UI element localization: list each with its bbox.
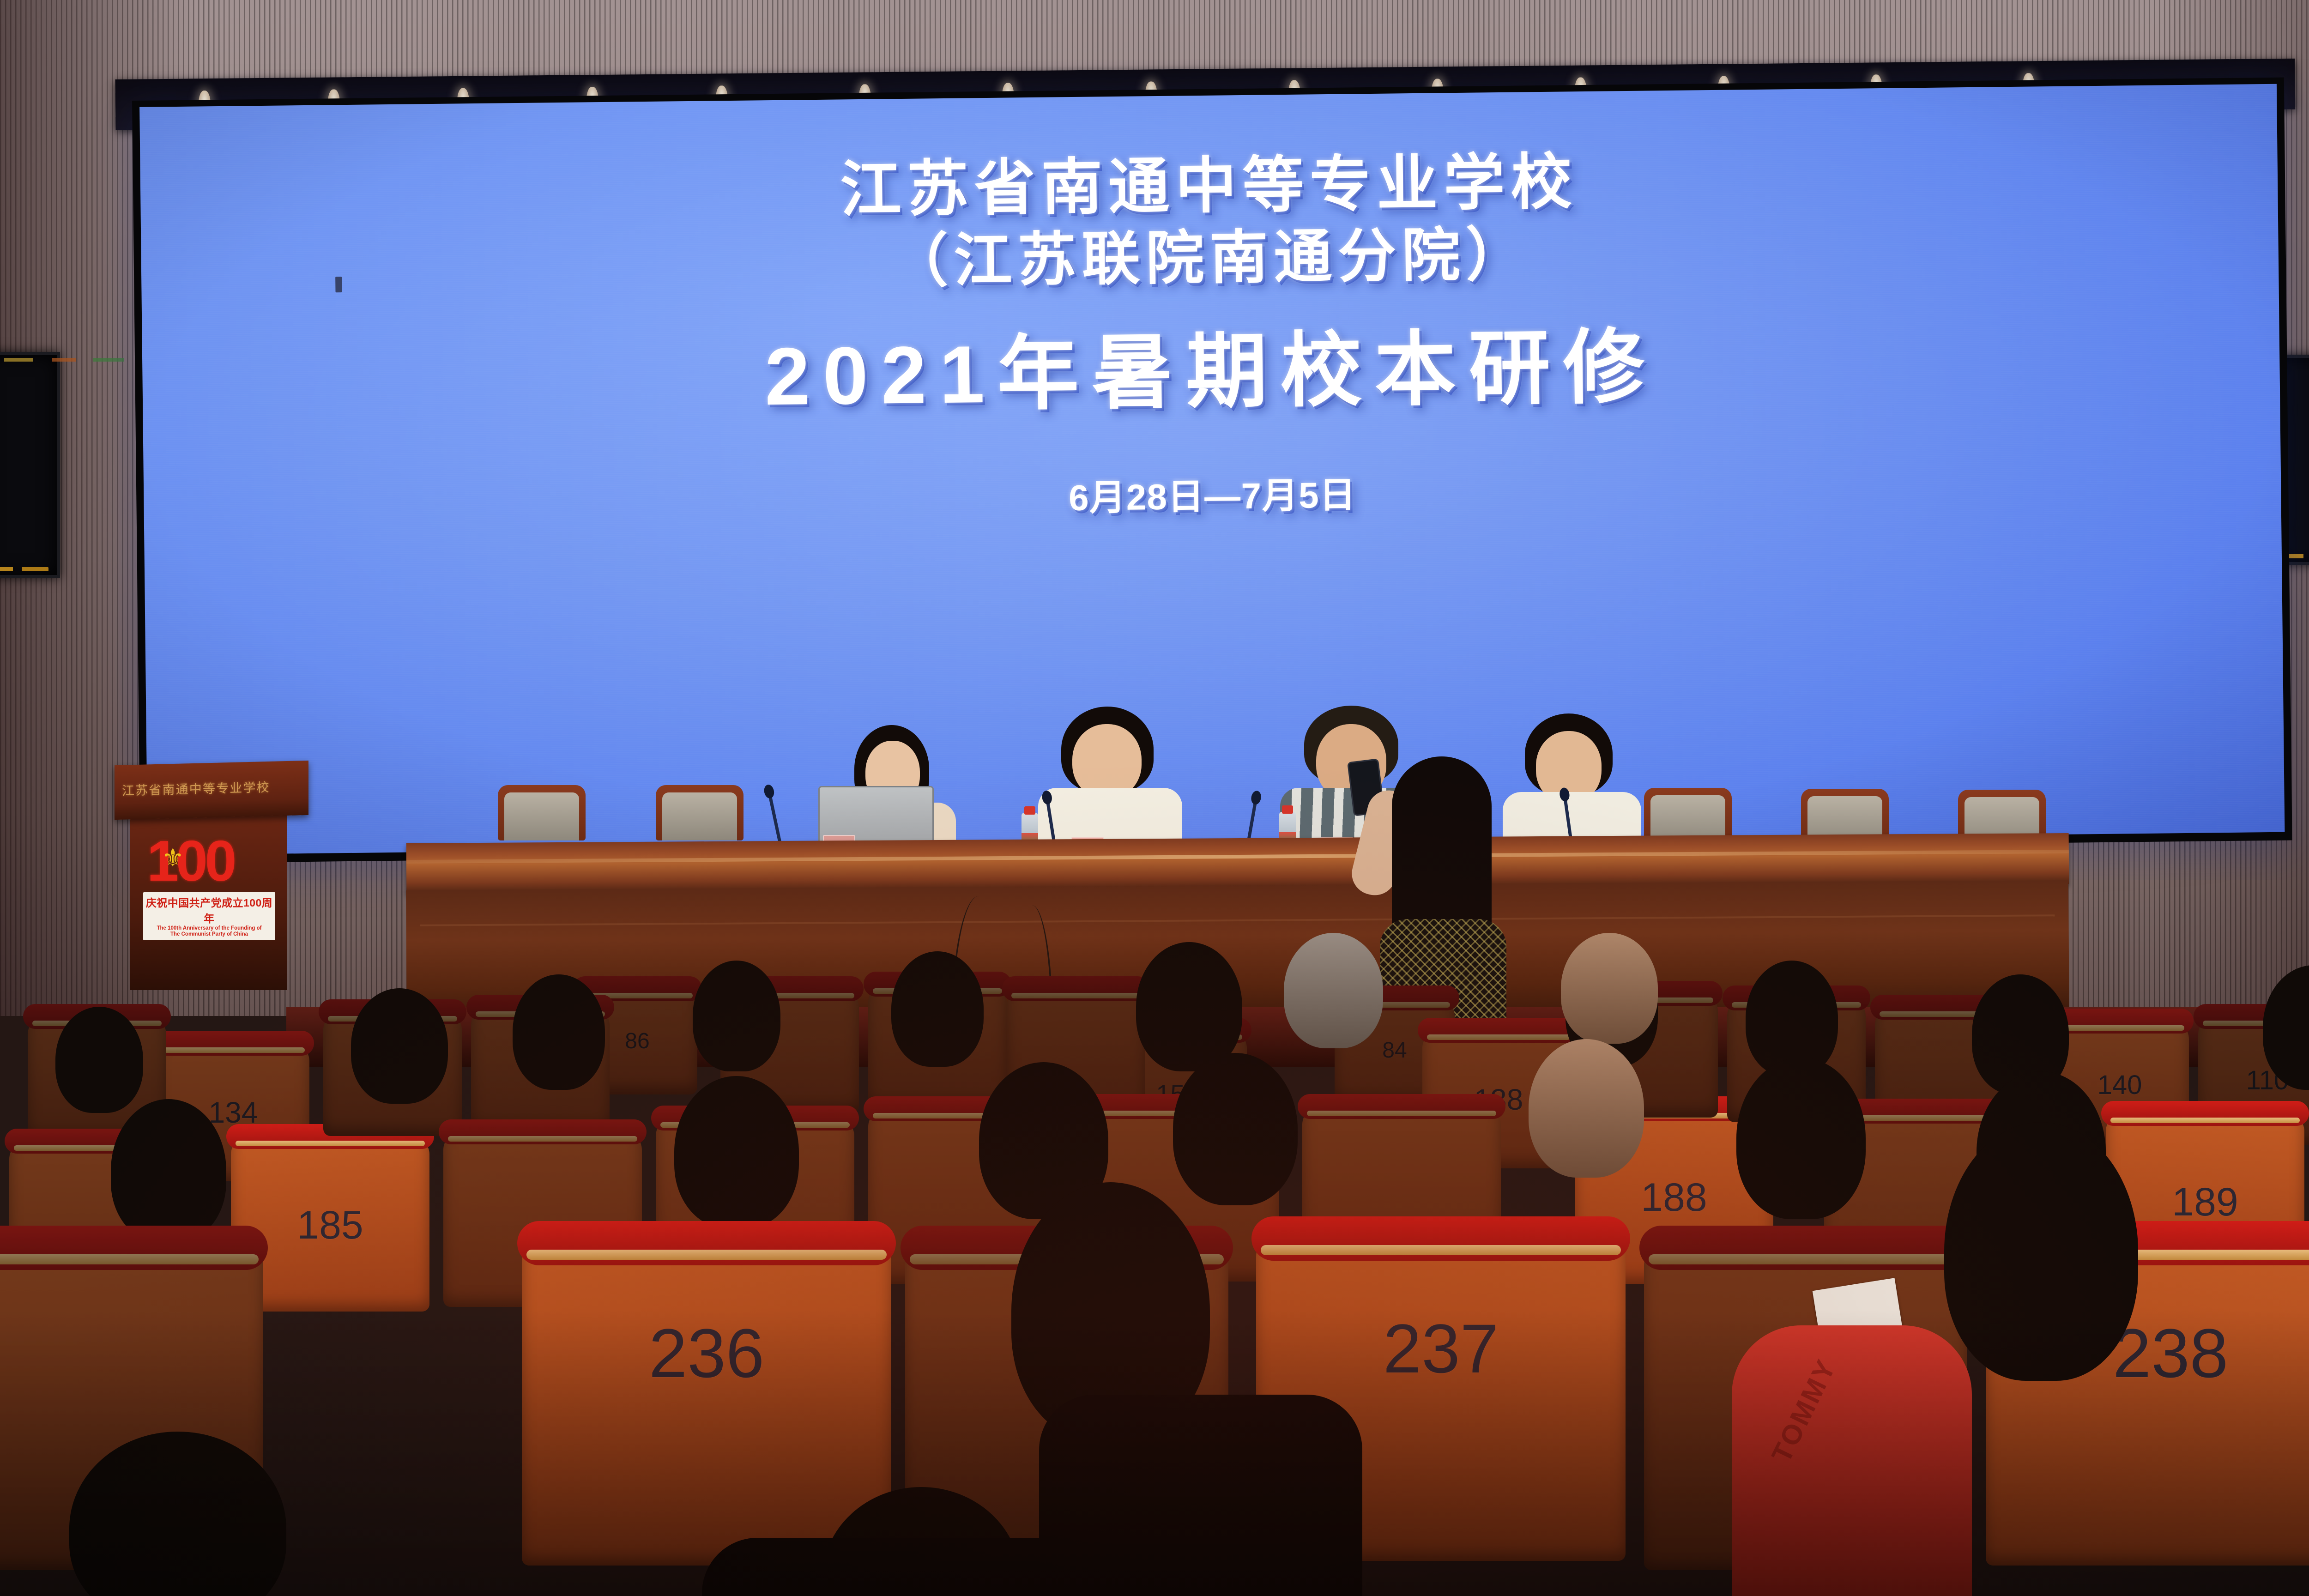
seat-number: 189 xyxy=(2106,1179,2304,1225)
cpc-caption-english-line1: The 100th Anniversary of the Founding of xyxy=(143,925,275,931)
audience-head-grey xyxy=(1284,933,1383,1048)
empty-chair xyxy=(656,785,743,840)
podium-top: 江苏省南通中等专业学校 xyxy=(115,761,308,820)
cpc-centenary-logo: 100 ⚜ 庆祝中国共产党成立100周年 The 100th Anniversa… xyxy=(147,833,271,925)
slide-organization-line1: 江苏省南通中等专业学校 xyxy=(840,146,1578,226)
audience-head xyxy=(1136,942,1242,1071)
panelist-head xyxy=(1072,724,1142,798)
wall-monitor-left xyxy=(0,352,60,578)
table-panel-seam xyxy=(420,914,2055,926)
audience-person-red-shirt: TOMMY xyxy=(1732,1325,1972,1596)
cpc-logo-caption: 庆祝中国共产党成立100周年 The 100th Anniversary of … xyxy=(143,892,275,940)
table-edge-highlight xyxy=(406,850,2069,864)
monitor-status-led xyxy=(0,567,48,571)
seat-236[interactable]: 236 xyxy=(522,1242,891,1566)
podium-plaque: 江苏省南通中等专业学校 xyxy=(122,777,285,798)
seat-number: 237 xyxy=(1256,1309,1626,1389)
hammer-sickle-icon: ⚜ xyxy=(162,843,184,872)
audience-head xyxy=(891,951,984,1067)
audience-head-bald xyxy=(1529,1039,1644,1178)
audience-head xyxy=(1173,1053,1298,1205)
audience-head xyxy=(693,961,780,1071)
projection-screen: 江苏省南通中等专业学校 （江苏联院南通分院） 2021年暑期校本研修 6月28日… xyxy=(139,84,2285,855)
foreground-head xyxy=(1944,1122,2138,1381)
audience-head xyxy=(674,1076,799,1228)
audience-head-bald xyxy=(1561,933,1658,1044)
presentation-slide: 江苏省南通中等专业学校 （江苏联院南通分院） 2021年暑期校本研修 6月28日… xyxy=(139,84,2285,855)
slide-organization-line2: （江苏联院南通分院） xyxy=(889,220,1530,296)
empty-chair xyxy=(498,785,586,840)
cpc-caption-english-line2: The Communist Party of China xyxy=(143,931,275,937)
cpc-caption-chinese: 庆祝中国共产党成立100周年 xyxy=(143,894,275,925)
audience-head xyxy=(351,988,448,1104)
audience-head xyxy=(513,974,605,1090)
seat-number: 236 xyxy=(522,1313,891,1393)
audience-head xyxy=(55,1007,143,1113)
auditorium-photo: 江苏省南通中等专业学校 （江苏联院南通分院） 2021年暑期校本研修 6月28日… xyxy=(0,0,2309,1596)
slide-date-range: 6月28日—7月5日 xyxy=(1069,473,1356,519)
slide-main-title: 2021年暑期校本研修 xyxy=(764,320,1658,426)
monitor-indicator-lights xyxy=(4,358,124,362)
foreground-shoulders xyxy=(1039,1395,1362,1596)
projection-screen-frame: 江苏省南通中等专业学校 （江苏联院南通分院） 2021年暑期校本研修 6月28日… xyxy=(132,78,2292,864)
audience-head xyxy=(1736,1058,1866,1219)
audience-head xyxy=(111,1099,226,1242)
shirt-brand-text: TOMMY xyxy=(1765,1354,1842,1467)
